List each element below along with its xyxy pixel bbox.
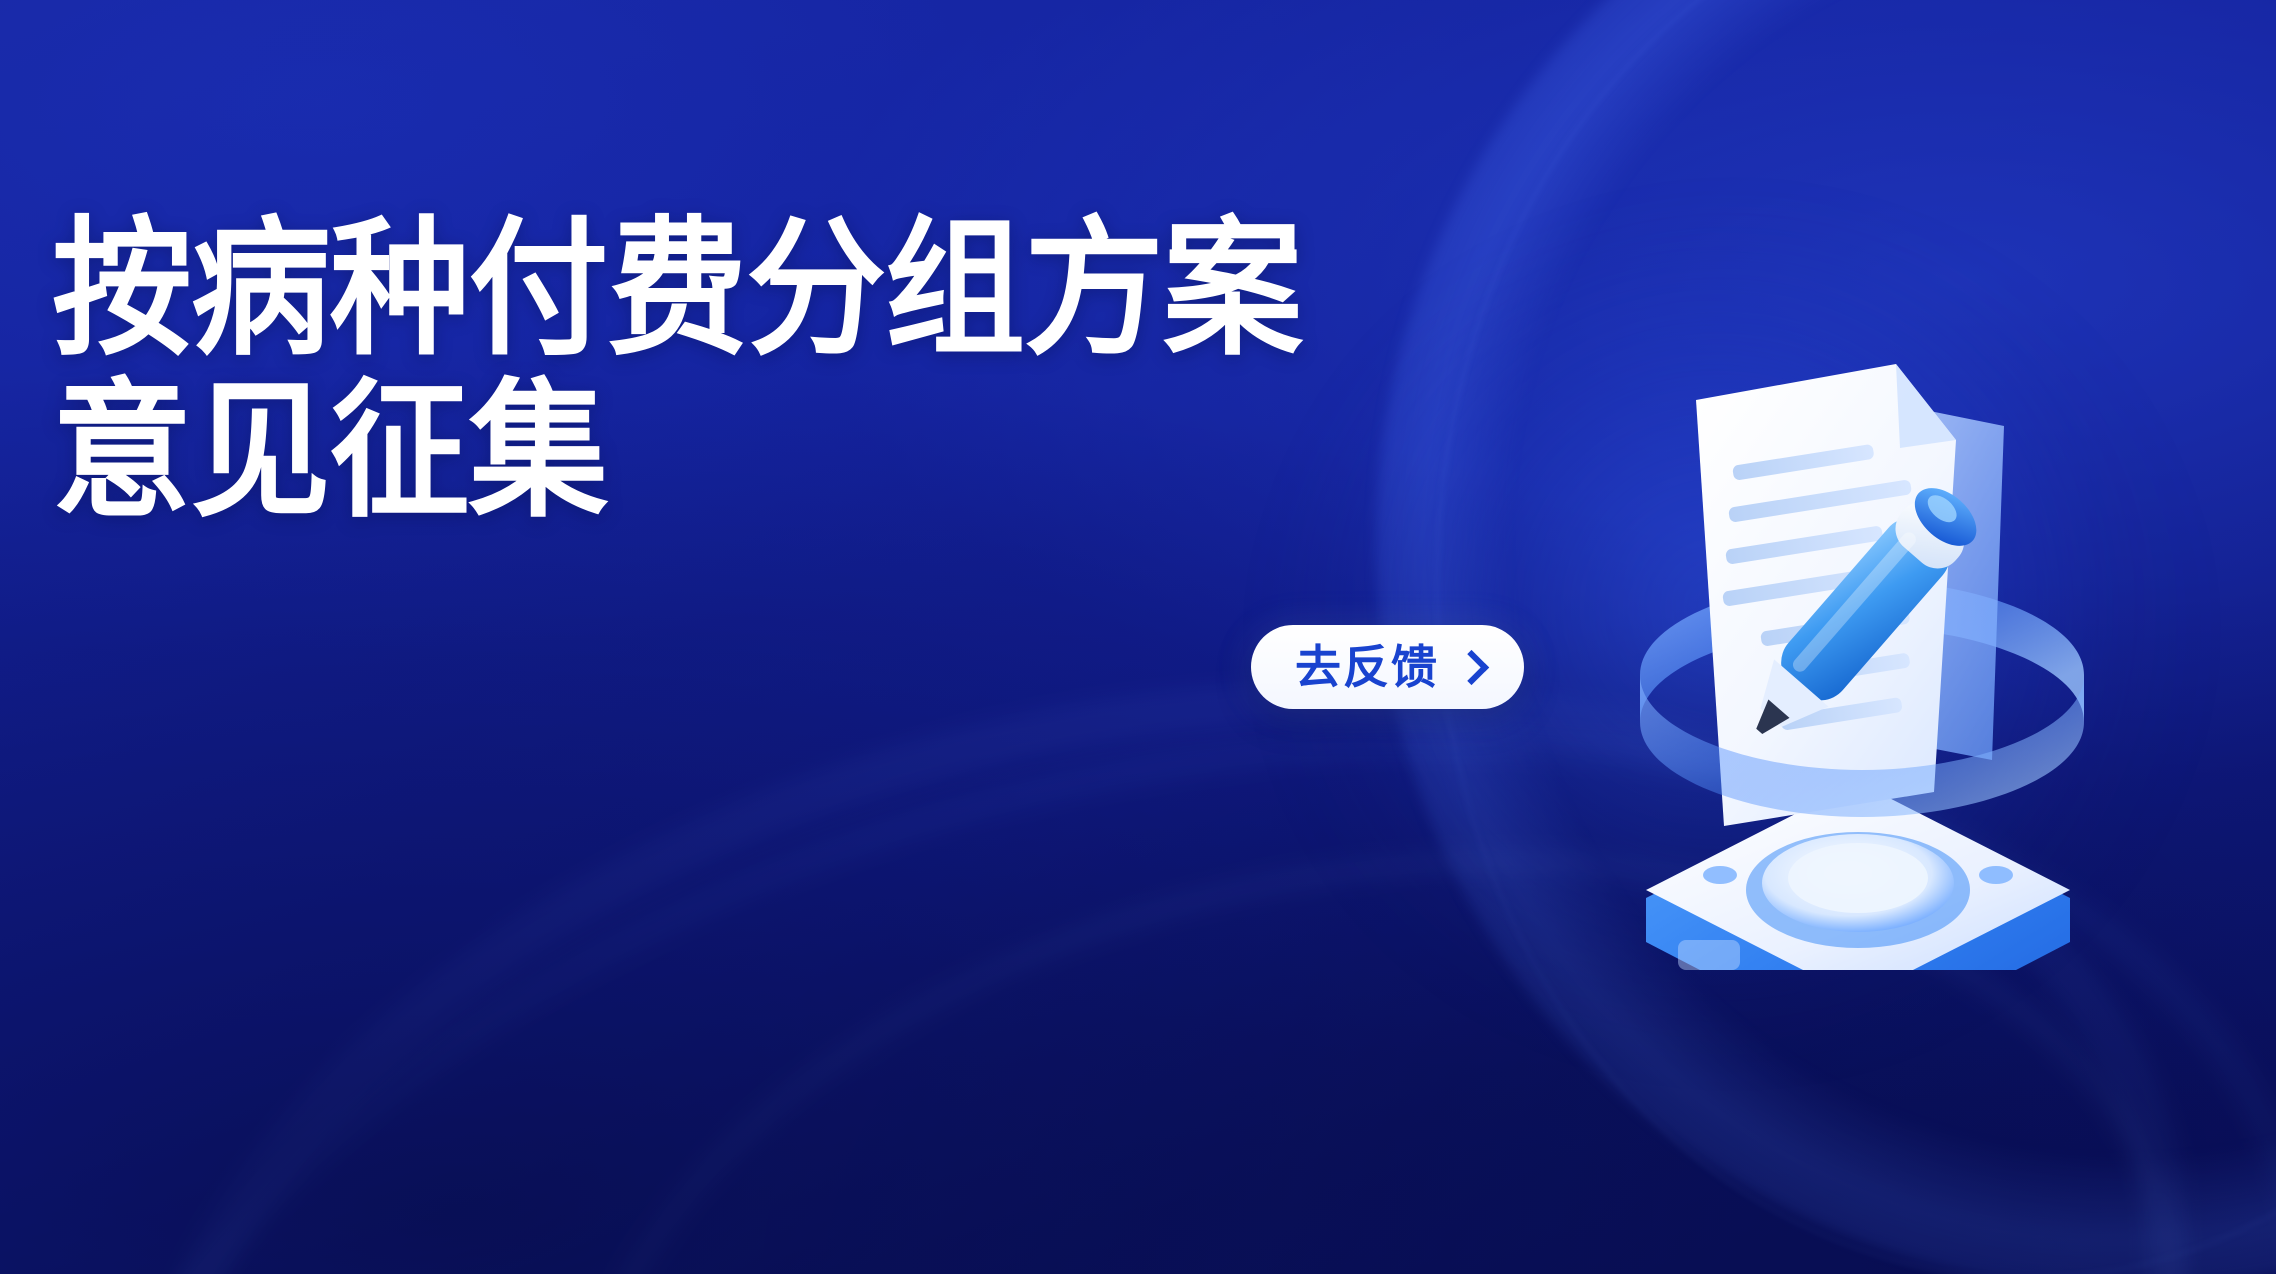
go-to-feedback-label: 去反馈 xyxy=(1295,644,1439,690)
document-with-pencil-illustration xyxy=(1600,330,2120,970)
page-title-line-1: 按病种付费分组方案 xyxy=(52,214,1302,365)
headline-block: 按病种付费分组方案 意见征集 xyxy=(52,214,1231,510)
go-to-feedback-button[interactable]: 去反馈 xyxy=(1251,625,1524,709)
page-title-line-2: 意见征集 xyxy=(52,376,1302,527)
feedback-banner: 按病种付费分组方案 意见征集 去反馈 xyxy=(0,0,2276,1274)
chevron-right-icon xyxy=(1454,649,1489,684)
